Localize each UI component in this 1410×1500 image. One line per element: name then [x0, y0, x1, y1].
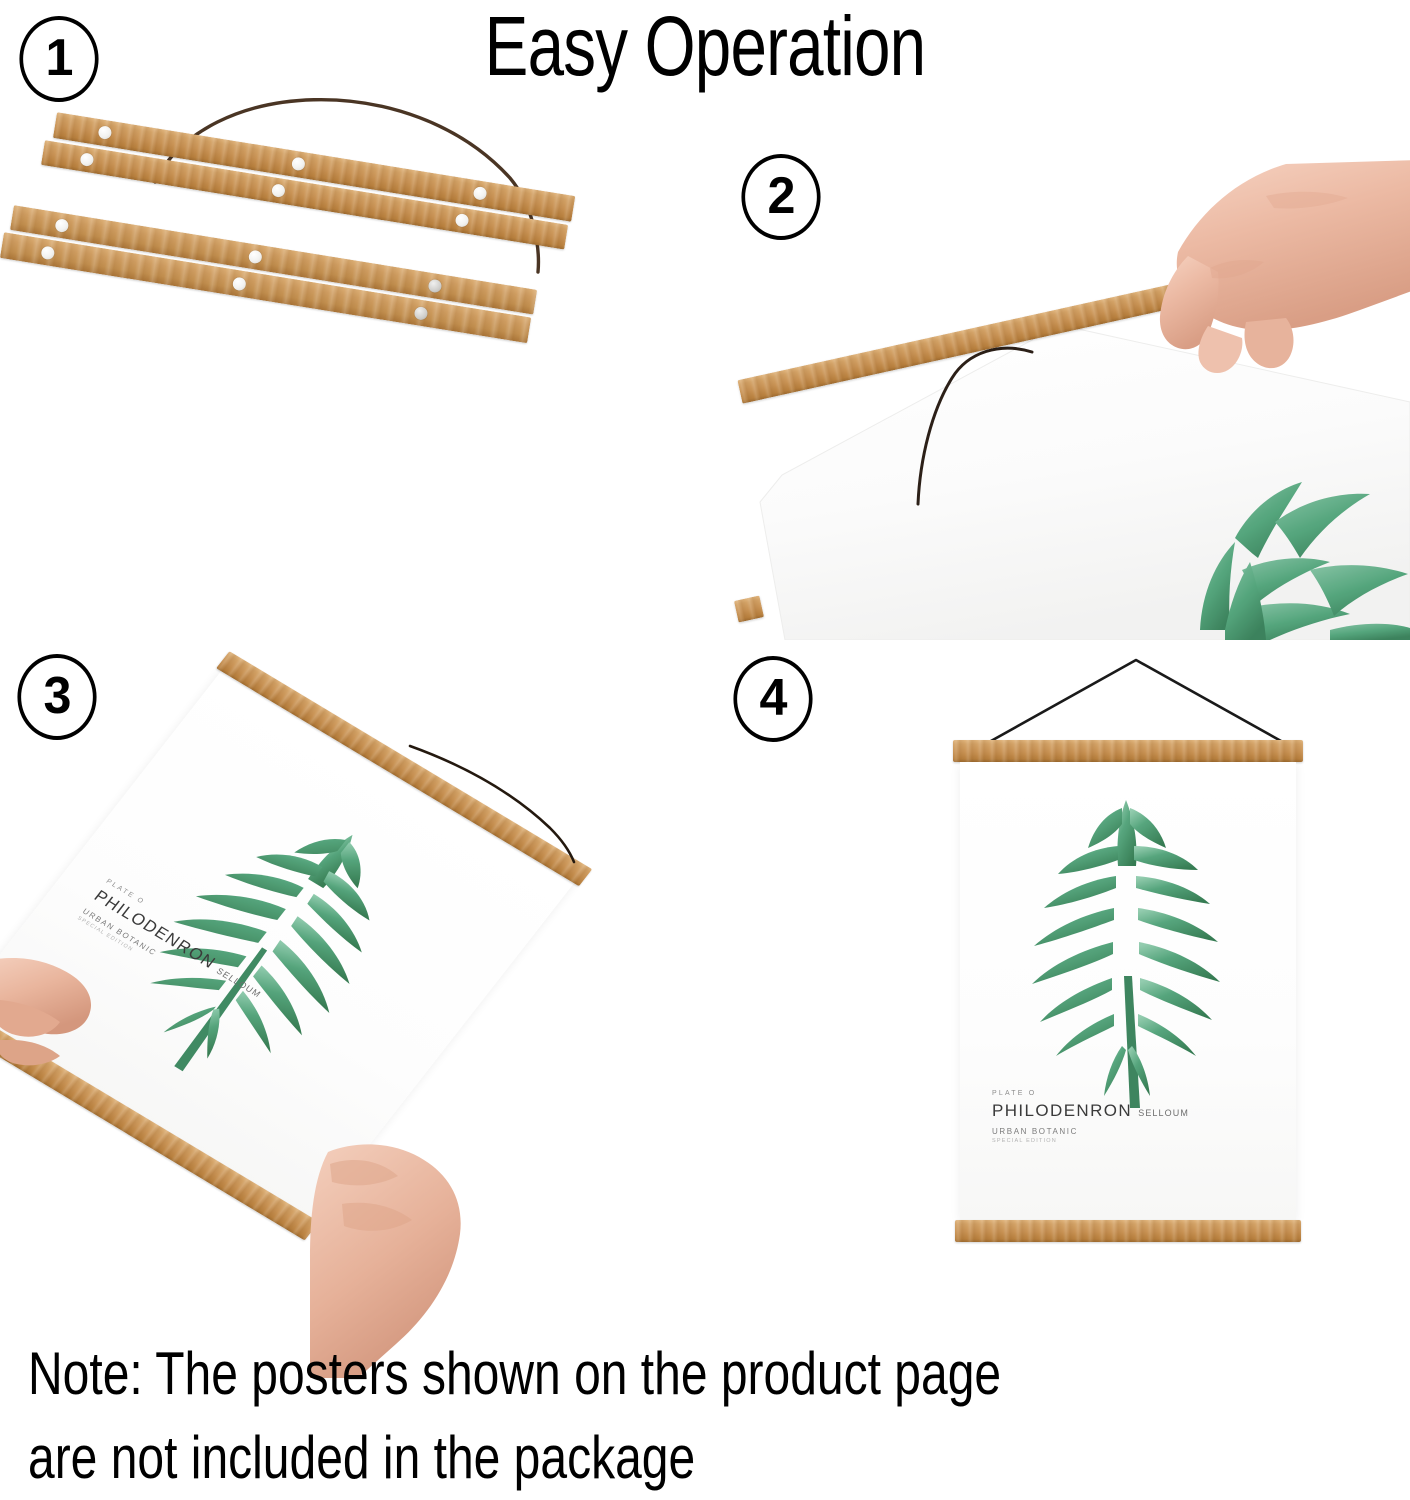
magnet-dot-icon [54, 218, 69, 233]
magnet-dot-icon [232, 276, 247, 291]
poster-plate: PLATE O [992, 1090, 1189, 1097]
step-1-panel: 1 [0, 0, 700, 500]
hanging-cord-icon [400, 732, 620, 872]
poster-species: SELLOUM [1138, 1108, 1189, 1118]
step-4-panel: 4 [700, 640, 1410, 1280]
step-3-number: 3 [43, 670, 71, 722]
magnet-dot-icon [248, 249, 263, 264]
step-2-number: 2 [767, 170, 795, 222]
poster-caption: PLATE O PHILODENRON SELLOUM URBAN BOTANI… [992, 1090, 1189, 1144]
note-line-1: Note: The posters shown on the product p… [28, 1332, 1116, 1416]
magnet-dot-icon [428, 279, 443, 294]
frame-rail-top [953, 740, 1303, 762]
magnet-dot-icon [271, 183, 286, 198]
magnet-dot-icon [97, 125, 112, 140]
step-2-panel: 2 [700, 140, 1410, 640]
note-line-2: are not included in the package [28, 1416, 1116, 1500]
step-3-badge: 3 [17, 654, 96, 740]
hand-icon [1060, 160, 1410, 440]
step-3-panel: 3 [0, 640, 700, 1280]
magnet-dot-icon [455, 213, 470, 228]
philodendron-leaf-icon [988, 780, 1270, 1110]
poster-name: PHILODENRON SELLOUM [992, 1101, 1189, 1121]
step-1-badge: 1 [19, 16, 98, 102]
poster-edition: SPECIAL EDITION [992, 1138, 1189, 1144]
step-4-number: 4 [759, 672, 787, 724]
hand-icon [0, 940, 162, 1120]
frame-rail-bottom [955, 1220, 1301, 1242]
disclaimer-note: Note: The posters shown on the product p… [28, 1332, 1116, 1500]
step-1-number: 1 [45, 32, 73, 84]
magnet-dot-icon [40, 245, 55, 260]
magnet-dot-icon [473, 186, 488, 201]
step-2-badge: 2 [741, 154, 820, 240]
magnet-dot-icon [414, 306, 429, 321]
magnet-dot-icon [291, 156, 306, 171]
step-4-badge: 4 [733, 656, 812, 742]
hanging-cord-icon [950, 654, 1320, 754]
poster-brand: URBAN BOTANIC [992, 1127, 1189, 1136]
magnet-dot-icon [79, 152, 94, 167]
